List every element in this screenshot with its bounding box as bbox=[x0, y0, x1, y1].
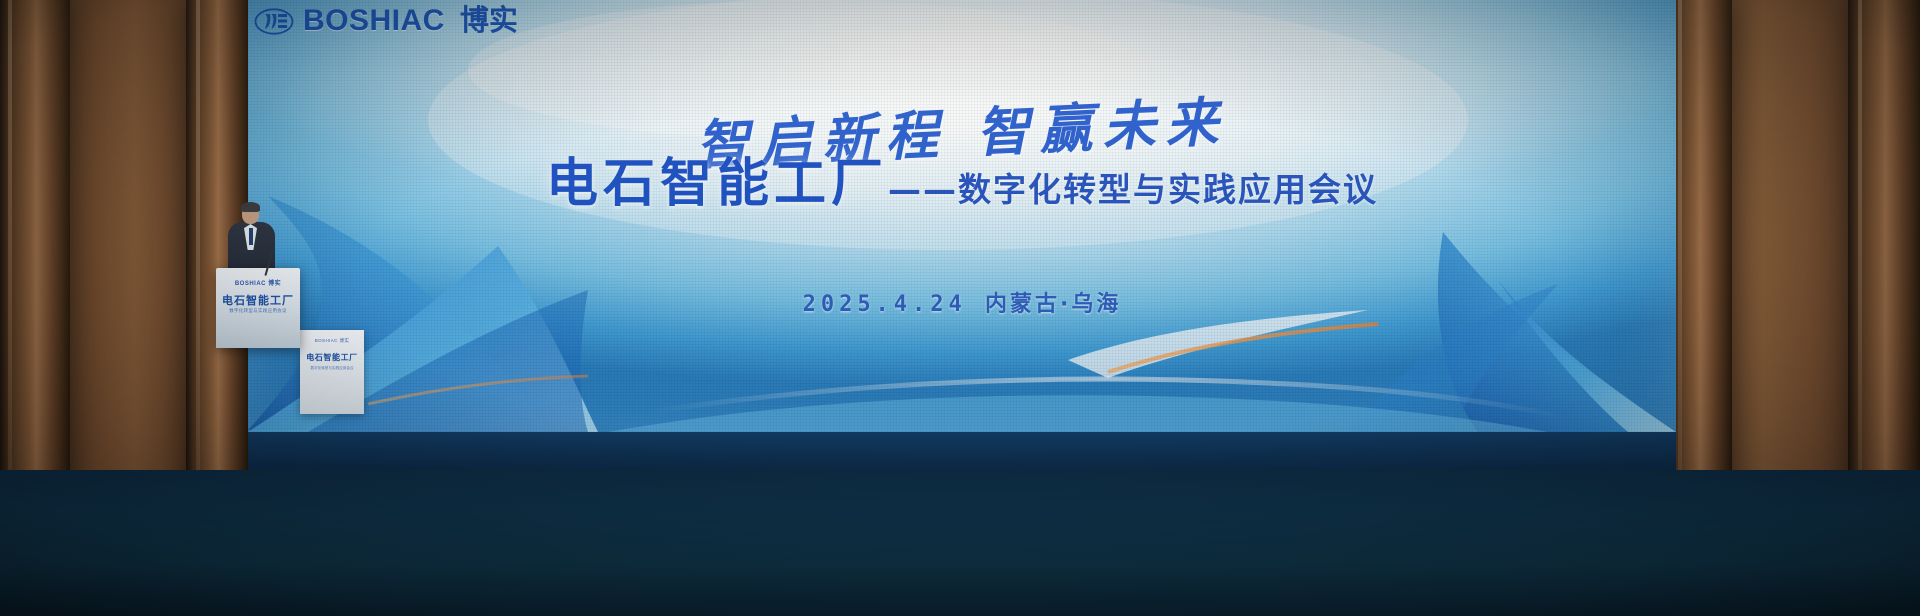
boshiac-emblem-icon bbox=[254, 8, 294, 35]
event-title-sub: ——数字化转型与实践应用会议 bbox=[888, 173, 1378, 210]
podium-sub-text: 数字化转型与实践应用会议 bbox=[216, 308, 300, 314]
event-dateline: 2025.4.24 内蒙古·乌海 bbox=[248, 286, 1676, 318]
brand-chinese-name: 博实 bbox=[460, 7, 518, 36]
screen-brand-logo: BOSHIAC 博实 bbox=[254, 6, 518, 36]
conference-photo-scene: BOSHIAC 博实 智启新程 智赢未来 电石智能工厂 ——数字化转型与实践应用… bbox=[0, 0, 1920, 616]
event-title-main: 电石智能工厂 bbox=[546, 158, 888, 210]
podium-logo-text: BOSHIAC 博实 bbox=[216, 278, 300, 287]
brand-latin-name: BOSHIAC bbox=[303, 6, 445, 36]
event-title: 电石智能工厂 ——数字化转型与实践应用会议 bbox=[248, 158, 1676, 210]
event-date: 2025.4.24 bbox=[803, 292, 967, 317]
podium-title-text: 电石智能工厂 bbox=[216, 292, 300, 308]
speaker-at-podium bbox=[224, 204, 280, 278]
event-place: 内蒙古·乌海 bbox=[985, 292, 1121, 317]
audience-seating bbox=[0, 316, 1920, 616]
